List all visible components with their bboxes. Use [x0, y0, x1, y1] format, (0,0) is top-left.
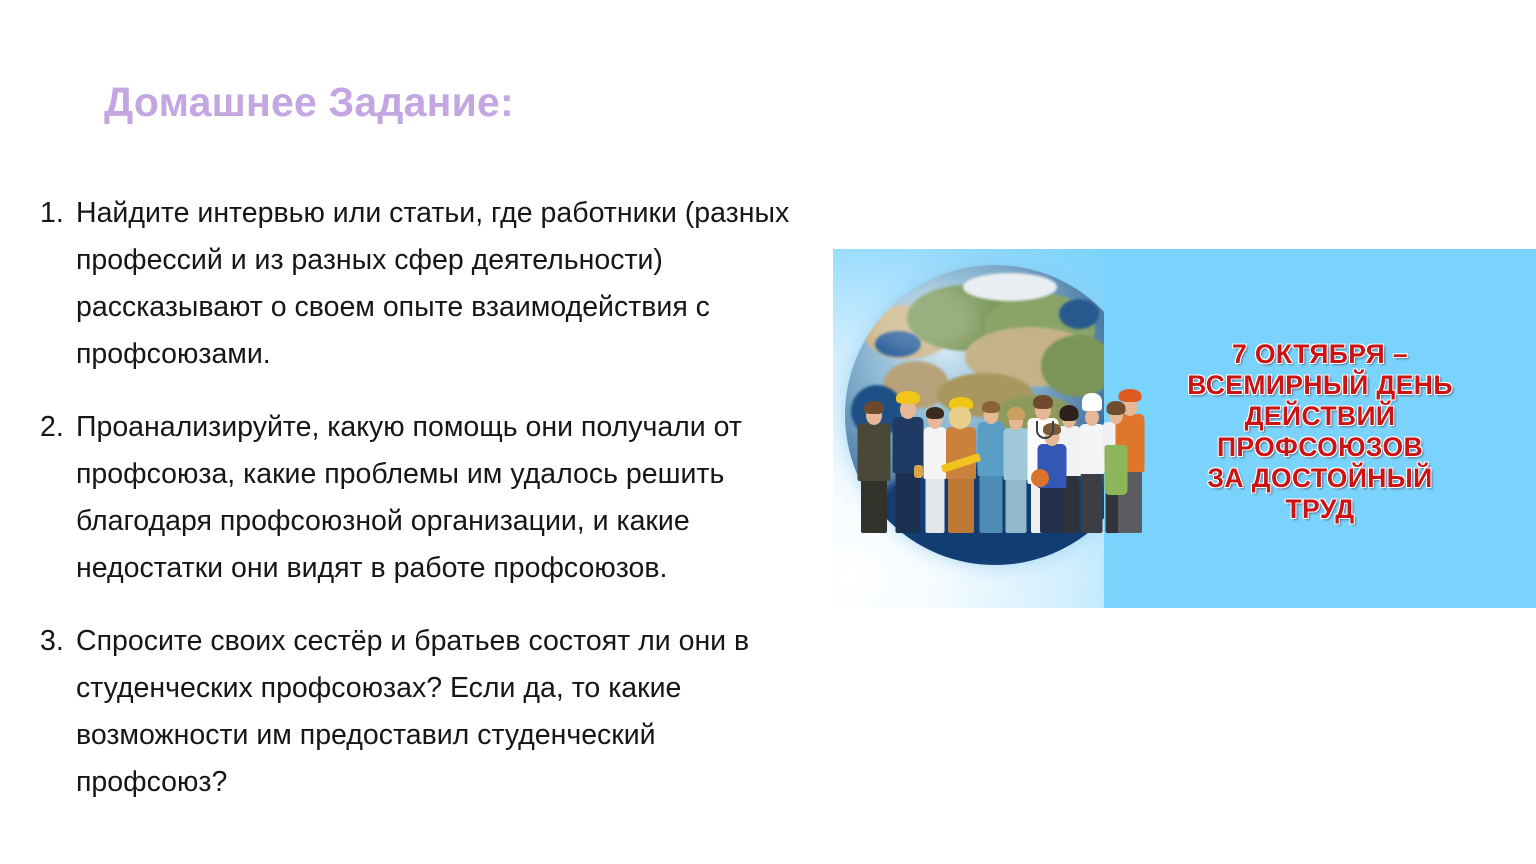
stethoscope-prop — [1036, 421, 1054, 439]
worker-builder-woman — [945, 397, 977, 533]
page-title: Домашнее Задание: — [104, 79, 514, 126]
headline-line-4: ПРОФСОЮЗОВ — [1217, 432, 1423, 463]
headline-line-3: ДЕЙСТВИЙ — [1245, 401, 1396, 432]
list-item-number: 3. — [34, 618, 76, 665]
list-item-number: 1. — [34, 190, 76, 237]
worker-nurse-scrubs — [1003, 407, 1029, 533]
headline-line-6: ТРУД — [1285, 494, 1354, 525]
workers-group-illustration — [853, 333, 1143, 533]
list-item-text: Спросите своих сестёр и братьев состоят … — [76, 618, 806, 806]
poster-illustration-pane — [833, 249, 1104, 608]
poster-headline: 7 ОКТЯБРЯ – ВСЕМИРНЫЙ ДЕНЬ ДЕЙСТВИЙ ПРОФ… — [1104, 249, 1536, 608]
worker-welder — [892, 391, 924, 533]
headline-line-5: ЗА ДОСТОЙНЫЙ — [1207, 463, 1432, 494]
headline-line-1: 7 ОКТЯБРЯ – — [1232, 339, 1408, 370]
glove-prop — [914, 465, 923, 478]
worker-paramedic — [977, 401, 1005, 533]
basketball-prop — [1031, 469, 1049, 487]
list-item: 3. Спросите своих сестёр и братьев состо… — [34, 618, 824, 806]
homework-task-list: 1. Найдите интервью или статьи, где рабо… — [34, 190, 824, 832]
list-item: 2. Проанализируйте, какую помощь они пол… — [34, 404, 824, 592]
poster-image: 7 ОКТЯБРЯ – ВСЕМИРНЫЙ ДЕНЬ ДЕЙСТВИЙ ПРОФ… — [833, 249, 1536, 608]
headline-line-2: ВСЕМИРНЫЙ ДЕНЬ — [1187, 370, 1453, 401]
list-item: 1. Найдите интервью или статьи, где рабо… — [34, 190, 824, 378]
list-item-text: Проанализируйте, какую помощь они получа… — [76, 404, 806, 592]
globe-illustration — [845, 265, 1145, 565]
worker-soldier — [857, 401, 891, 533]
list-item-number: 2. — [34, 404, 76, 451]
list-item-text: Найдите интервью или статьи, где работни… — [76, 190, 806, 378]
